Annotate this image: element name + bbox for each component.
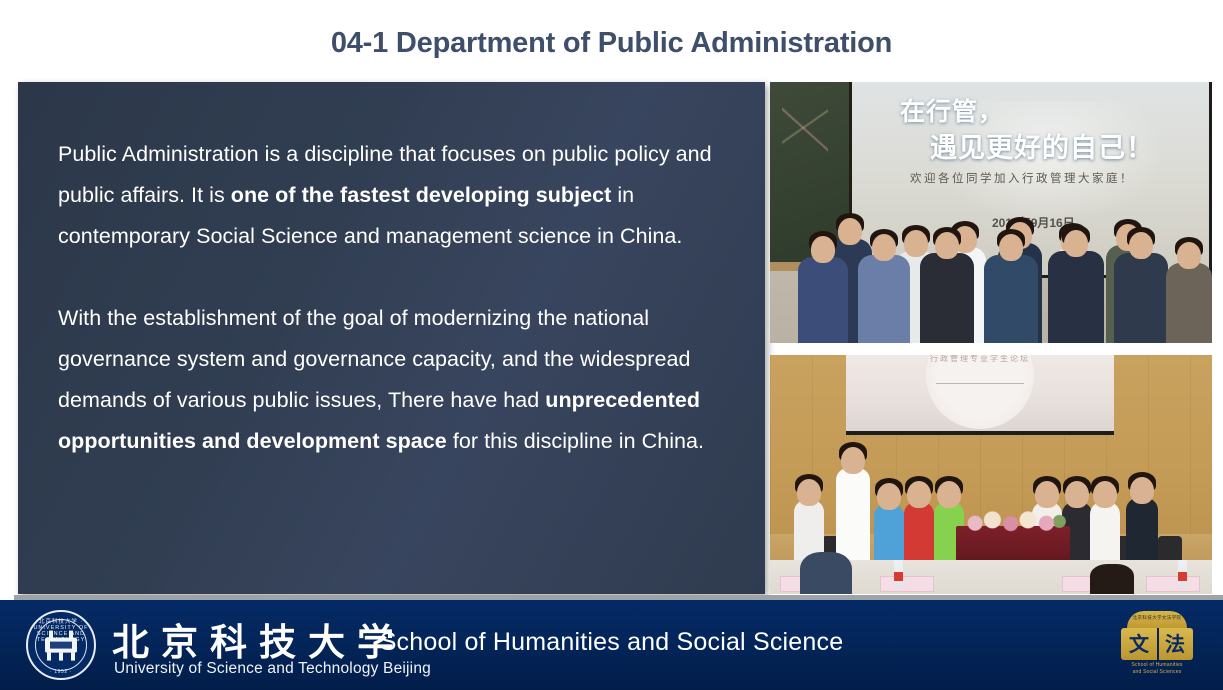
photo-group-welcome: 在行管， 遇见更好的自己！ 欢迎各位同学加入行政管理大家庭！ 2018年9月16… (770, 82, 1212, 343)
photo-student-forum: 行政管理专业学生论坛 (770, 355, 1212, 594)
paragraph-1-bold: one of the fastest developing subject (231, 183, 612, 207)
forum-screen-text: 行政管理专业学生论坛 (930, 355, 1030, 364)
shss-logo-arc: 北京科技大学文法学院 (1127, 611, 1187, 628)
panelist-speaker (836, 468, 870, 560)
screen-circle (926, 355, 1034, 429)
paragraph-2: With the establishment of the goal of mo… (58, 298, 727, 462)
group-people (770, 143, 1212, 343)
water-bottle (1178, 560, 1187, 586)
shss-logo-char-fa: 法 (1165, 632, 1185, 656)
school-name: School of Humanities and Social Science (0, 628, 1223, 657)
paragraph-1: Public Administration is a discipline th… (58, 134, 727, 257)
shss-logo-char-wen: 文 (1129, 632, 1149, 656)
shss-logo-icon: 北京科技大学文法学院 文 法 School of Humanities and … (1119, 611, 1195, 679)
shss-logo-block: 文 法 (1121, 628, 1193, 660)
shss-logo-en-line-1: School of Humanities (1119, 662, 1195, 669)
shss-logo-en-line-2: and Social Sciences (1119, 669, 1195, 676)
panelist (874, 504, 904, 560)
audience-member (1090, 564, 1134, 594)
flower-arrangement (960, 510, 1068, 532)
seal-year: · 1952 · (28, 669, 94, 675)
screen-underline (936, 383, 1024, 384)
shss-logo-characters: 文 法 (1121, 632, 1193, 656)
audience-member (800, 552, 852, 594)
panelist (1090, 502, 1120, 560)
panelist (1126, 498, 1158, 560)
paragraph-2-part-2: for this discipline in China. (447, 429, 704, 453)
slide: 04-1 Department of Public Administration… (0, 0, 1223, 690)
photo-student-forum-scene: 行政管理专业学生论坛 (770, 355, 1212, 594)
screen-caption-line-1: 在行管， (900, 92, 1004, 128)
description-panel: Public Administration is a discipline th… (18, 82, 765, 594)
panelist (904, 502, 934, 560)
footer-bar: 北京科技大学 · UNIVERSITY OF SCIENCE AND TECHN… (0, 600, 1223, 690)
forum-projector-screen: 行政管理专业学生论坛 (846, 355, 1114, 435)
water-bottle (894, 560, 903, 586)
name-card (1146, 576, 1200, 592)
name-card (880, 576, 934, 592)
page-title: 04-1 Department of Public Administration (0, 27, 1223, 60)
photo-group-welcome-scene: 在行管， 遇见更好的自己！ 欢迎各位同学加入行政管理大家庭！ 2018年9月16… (770, 82, 1212, 343)
shss-logo-en: School of Humanities and Social Sciences (1119, 662, 1195, 676)
university-name-en: University of Science and Technology Bei… (114, 660, 431, 678)
panelist (794, 500, 824, 560)
shss-logo-arc-text: 北京科技大学文法学院 (1127, 615, 1187, 621)
